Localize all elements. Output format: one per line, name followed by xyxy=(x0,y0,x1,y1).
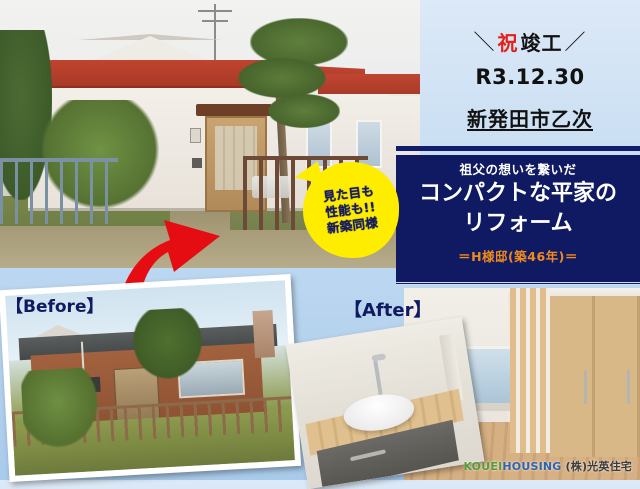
slash-left-decoration: ＼ xyxy=(474,26,496,56)
after-photo-sink-frame xyxy=(286,317,485,489)
completion-date: R3.12.30 xyxy=(420,65,640,89)
after-label: 【After】 xyxy=(344,296,431,322)
highlight-speech-bubble: 見た目も 性能も!! 新築同様 xyxy=(303,162,399,258)
title-main-line-1: コンパクトな平家の xyxy=(402,181,634,207)
wall-meter-box xyxy=(190,128,201,143)
celebration-heading: ＼ 祝 竣工 ／ xyxy=(420,26,640,56)
celebration-kanji: 祝 xyxy=(498,27,519,56)
gable xyxy=(88,36,212,62)
project-location: 新発田市乙次 xyxy=(420,103,640,132)
after-photo-sink xyxy=(286,317,485,489)
before-tree xyxy=(21,366,104,453)
logo-kouei: KOUEI xyxy=(463,460,502,473)
title-subtitle: 祖父の想いを繋いだ xyxy=(402,162,634,177)
bubble-text: 見た目も 性能も!! 新築同様 xyxy=(323,183,380,237)
wall-vent xyxy=(192,158,202,168)
pine-canopy-mid xyxy=(238,58,326,98)
logo-company-name: (株)光英住宅 xyxy=(566,460,632,473)
title-main-line-2: リフォーム xyxy=(402,211,634,237)
entrance-canopy xyxy=(196,104,272,116)
roof-main xyxy=(18,60,266,86)
tv-antenna xyxy=(214,4,216,60)
title-panel: 祖父の想いを繋いだ コンパクトな平家の リフォーム ＝H様邸(築46年)＝ xyxy=(396,155,640,285)
before-label: 【Before】 xyxy=(6,292,103,317)
company-logo: KOUEIHOUSING (株)光英住宅 xyxy=(463,458,632,474)
before-post xyxy=(253,310,275,358)
logo-housing: HOUSING xyxy=(502,460,561,473)
slash-right-decoration: ／ xyxy=(565,26,587,56)
title-panel-top-rule xyxy=(396,146,640,151)
pine-canopy-low xyxy=(268,94,340,128)
celebration-word: 竣工 xyxy=(521,27,563,56)
closet-handle-right xyxy=(627,370,630,404)
closet-handle-left xyxy=(584,370,587,404)
wood-louver-partition xyxy=(510,288,550,457)
poster-stage: 見た目も 性能も!! 新築同様 ＼ 祝 竣工 ／ R3.12.30 新発田市乙次… xyxy=(0,0,640,480)
header-block: ＼ 祝 竣工 ／ R3.12.30 新発田市乙次 xyxy=(420,26,640,132)
fence-left xyxy=(0,158,118,224)
roof-right xyxy=(318,74,420,94)
before-pine xyxy=(129,307,206,383)
closet-doors xyxy=(550,296,640,465)
title-note: ＝H様邸(築46年)＝ xyxy=(402,246,634,265)
